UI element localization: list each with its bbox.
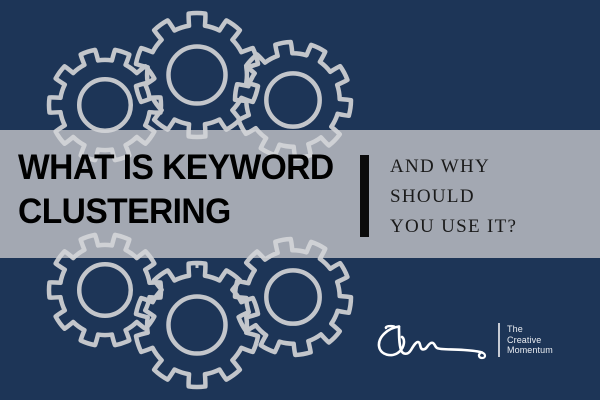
poster-canvas: WHAT IS KEYWORD CLUSTERING AND WHY SHOUL… — [0, 0, 600, 400]
subheadline: AND WHY SHOULD YOU USE IT? — [390, 152, 590, 242]
subheadline-line-3: YOU USE IT? — [390, 212, 590, 242]
logo-word-1: The — [507, 324, 553, 335]
logo-divider-rule — [498, 323, 500, 357]
gear-bottom-center-icon — [136, 263, 258, 387]
headline: WHAT IS KEYWORD CLUSTERING — [18, 146, 358, 234]
logo-wordmark: The Creative Momentum — [507, 324, 553, 356]
gear-top-left-icon — [49, 50, 161, 160]
vertical-divider-bar — [360, 155, 369, 237]
subheadline-line-1: AND WHY — [390, 152, 590, 182]
gear-bottom-right-icon — [235, 239, 351, 355]
gear-bottom-left-icon — [49, 235, 161, 345]
logo-word-3: Momentum — [507, 345, 553, 356]
headline-line-1: WHAT IS KEYWORD — [18, 146, 344, 190]
subheadline-line-2: SHOULD — [390, 182, 590, 212]
gear-top-center-icon — [136, 13, 258, 137]
gear-top-right-icon — [235, 42, 351, 158]
brand-logo: The Creative Momentum — [372, 312, 578, 368]
headline-line-2: CLUSTERING — [18, 190, 344, 234]
logo-word-2: Creative — [507, 335, 553, 346]
cm-signature-icon — [372, 315, 494, 365]
